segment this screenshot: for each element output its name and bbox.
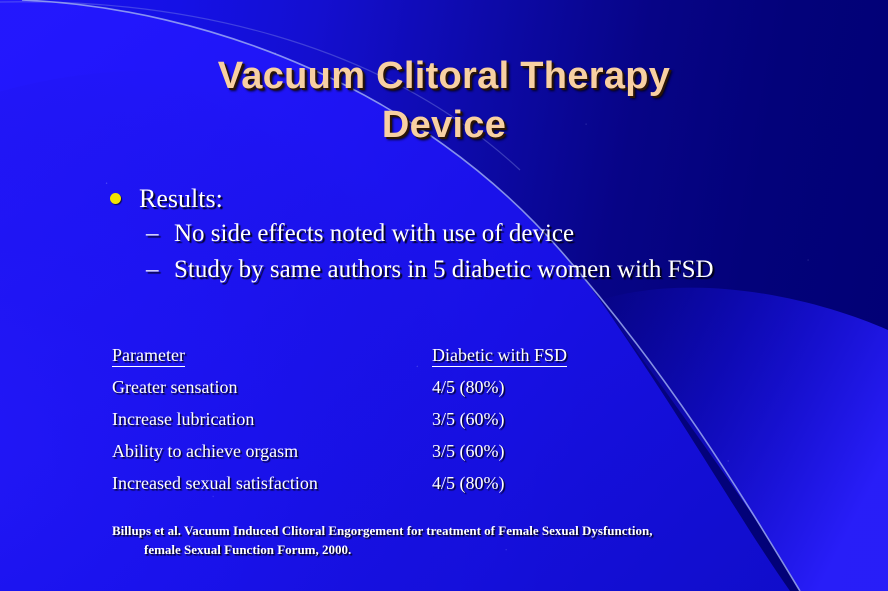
sub-bullet-label-1: No side effects noted with use of device [174,216,574,252]
bullet-item-results: Results: [110,182,810,216]
table-cell-parameter: Increase lubrication [112,409,432,441]
bullet-level1-label: Results: [139,182,223,216]
en-dash-icon: – [146,216,170,252]
table-header-diabetic-with-fsd: Diabetic with FSD [432,345,672,377]
table-row: Ability to achieve orgasm 3/5 (60%) [112,441,672,473]
results-table: Parameter Diabetic with FSD Greater sens… [112,345,672,505]
slide-title: Vacuum Clitoral Therapy Device [0,52,888,150]
presentation-slide: Vacuum Clitoral Therapy Device Results: … [0,0,888,591]
sub-bullet-item-2: – Study by same authors in 5 diabetic wo… [146,252,810,288]
table-header-parameter: Parameter [112,345,432,377]
sub-bullet-item-1: – No side effects noted with use of devi… [146,216,810,252]
table-cell-parameter: Ability to achieve orgasm [112,441,432,473]
table-row: Greater sensation 4/5 (80%) [112,377,672,409]
citation-line-1: Billups et al. Vacuum Induced Clitoral E… [112,523,652,538]
table-cell-parameter: Greater sensation [112,377,432,409]
table-cell-value: 3/5 (60%) [432,441,672,473]
table-cell-value: 4/5 (80%) [432,473,672,505]
en-dash-icon: – [146,252,170,288]
sub-bullet-label-2: Study by same authors in 5 diabetic wome… [174,252,714,288]
citation-line-2: female Sexual Function Forum, 2000. [144,540,812,559]
table-header-row: Parameter Diabetic with FSD [112,345,672,377]
table-cell-parameter: Increased sexual satisfaction [112,473,432,505]
table-cell-value: 3/5 (60%) [432,409,672,441]
table-cell-value: 4/5 (80%) [432,377,672,409]
bullet-dot-icon [110,193,121,204]
table-row: Increase lubrication 3/5 (60%) [112,409,672,441]
table-row: Increased sexual satisfaction 4/5 (80%) [112,473,672,505]
bullet-list: Results: – No side effects noted with us… [110,182,810,288]
citation-footnote: Billups et al. Vacuum Induced Clitoral E… [112,521,812,559]
